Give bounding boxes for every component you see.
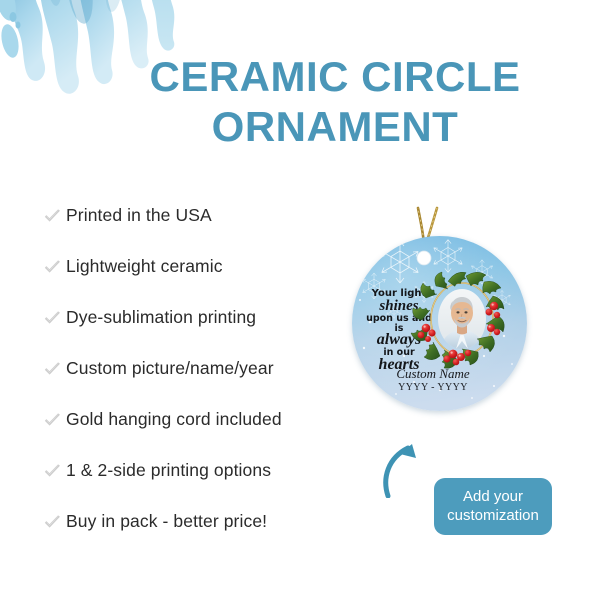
product-ornament[interactable]: Your light shines upon us and is always …	[352, 206, 532, 421]
page-title: CERAMIC CIRCLE ORNAMENT	[100, 52, 570, 152]
check-mark-icon	[44, 413, 66, 427]
ornament-disc[interactable]: Your light shines upon us and is always …	[352, 236, 527, 411]
feature-label: Buy in pack - better price!	[66, 511, 267, 532]
check-mark-icon	[44, 209, 66, 223]
feature-item: Gold hanging cord included	[44, 394, 344, 445]
check-mark-icon	[44, 362, 66, 376]
feature-item: 1 & 2-side printing options	[44, 445, 344, 496]
check-mark-icon	[44, 260, 66, 274]
check-mark-icon	[44, 515, 66, 529]
feature-label: Lightweight ceramic	[66, 256, 223, 277]
feature-item: Printed in the USA	[44, 190, 344, 241]
feature-item: Custom picture/name/year	[44, 343, 344, 394]
feature-label: Printed in the USA	[66, 205, 212, 226]
check-mark-icon	[44, 311, 66, 325]
page-title-line-1: CERAMIC CIRCLE	[100, 52, 570, 102]
custom-years-text: YYYY - YYYY	[390, 382, 476, 393]
check-mark-icon	[44, 464, 66, 478]
feature-label: 1 & 2-side printing options	[66, 460, 271, 481]
feature-item: Buy in pack - better price!	[44, 496, 344, 547]
feature-label: Gold hanging cord included	[66, 409, 282, 430]
custom-name-text: Custom Name	[390, 366, 476, 382]
feature-label: Custom picture/name/year	[66, 358, 274, 379]
feature-label: Dye-sublimation printing	[66, 307, 256, 328]
curved-arrow-icon	[378, 436, 434, 498]
page-title-line-2: ORNAMENT	[100, 102, 570, 152]
feature-item: Lightweight ceramic	[44, 241, 344, 292]
add-customization-button[interactable]: Add your customization	[434, 478, 552, 535]
feature-list: Printed in the USA Lightweight ceramic D…	[44, 190, 344, 547]
cta-line-1: Add your	[438, 487, 548, 506]
cta-line-2: customization	[438, 506, 548, 525]
feature-item: Dye-sublimation printing	[44, 292, 344, 343]
